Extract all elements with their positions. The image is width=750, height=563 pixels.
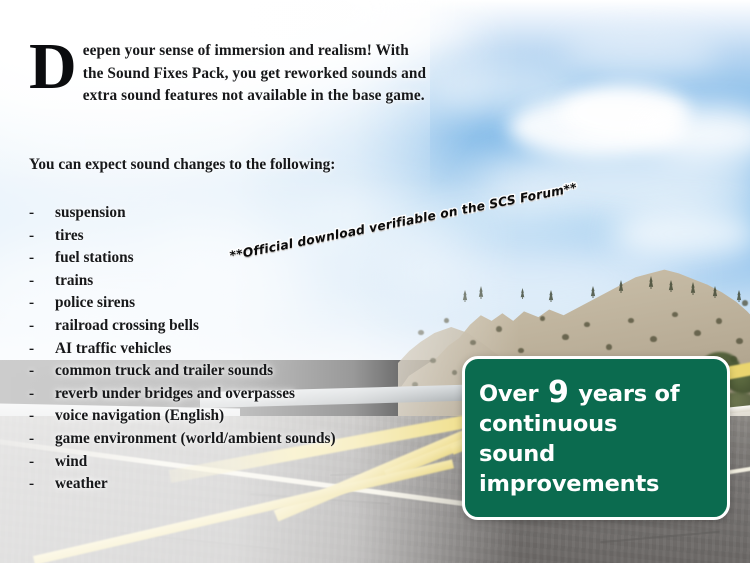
list-item: -railroad crossing bells	[29, 315, 459, 338]
bullet-dash: -	[29, 202, 55, 225]
list-item-label: tires	[55, 225, 84, 248]
list-item-label: reverb under bridges and overpasses	[55, 383, 295, 406]
sign-line-2: continuous	[479, 409, 717, 439]
list-item-label: fuel stations	[55, 247, 134, 270]
bullet-dash: -	[29, 405, 55, 428]
list-item-label: game environment (world/ambient sounds)	[55, 428, 336, 451]
intro-paragraph: Deepen your sense of immersion and reali…	[29, 40, 429, 108]
list-item-label: suspension	[55, 202, 126, 225]
bullet-dash: -	[29, 451, 55, 474]
sound-fixes-pack-poster: Deepen your sense of immersion and reali…	[0, 0, 750, 563]
intro-body-text: eepen your sense of immersion and realis…	[83, 42, 426, 104]
bullet-dash: -	[29, 360, 55, 383]
list-item: -common truck and trailer sounds	[29, 360, 459, 383]
bullet-dash: -	[29, 292, 55, 315]
poster-content: Deepen your sense of immersion and reali…	[0, 0, 750, 563]
bullet-dash: -	[29, 270, 55, 293]
list-item-label: weather	[55, 473, 108, 496]
list-item: -AI traffic vehicles	[29, 338, 459, 361]
expect-heading: You can expect sound changes to the foll…	[29, 156, 459, 174]
drop-cap-letter: D	[29, 37, 83, 95]
list-item: -wind	[29, 451, 459, 474]
bullet-dash: -	[29, 338, 55, 361]
sign-years-number: 9	[546, 375, 571, 410]
bullet-dash: -	[29, 225, 55, 248]
list-item-label: trains	[55, 270, 93, 293]
list-item: -voice navigation (English)	[29, 405, 459, 428]
green-road-sign: Over 9 years of continuous sound improve…	[462, 356, 730, 520]
list-item: -trains	[29, 270, 459, 293]
list-item-label: railroad crossing bells	[55, 315, 199, 338]
bullet-dash: -	[29, 315, 55, 338]
sign-text-block: Over 9 years of continuous sound improve…	[479, 379, 717, 499]
list-item: -game environment (world/ambient sounds)	[29, 428, 459, 451]
list-item: -reverb under bridges and overpasses	[29, 383, 459, 406]
bullet-dash: -	[29, 473, 55, 496]
sign-years-of-label: years of	[578, 381, 679, 407]
bullet-dash: -	[29, 247, 55, 270]
bullet-dash: -	[29, 428, 55, 451]
sign-line-3: sound	[479, 439, 717, 469]
list-item-label: police sirens	[55, 292, 135, 315]
list-item-label: wind	[55, 451, 87, 474]
sign-over-label: Over	[479, 381, 538, 407]
list-item: -police sirens	[29, 292, 459, 315]
list-item-label: voice navigation (English)	[55, 405, 224, 428]
list-item-label: common truck and trailer sounds	[55, 360, 273, 383]
bullet-dash: -	[29, 383, 55, 406]
list-item-label: AI traffic vehicles	[55, 338, 171, 361]
list-item: -weather	[29, 473, 459, 496]
sign-line-4: improvements	[479, 469, 717, 499]
sign-line-1: Over 9 years of	[479, 379, 717, 409]
